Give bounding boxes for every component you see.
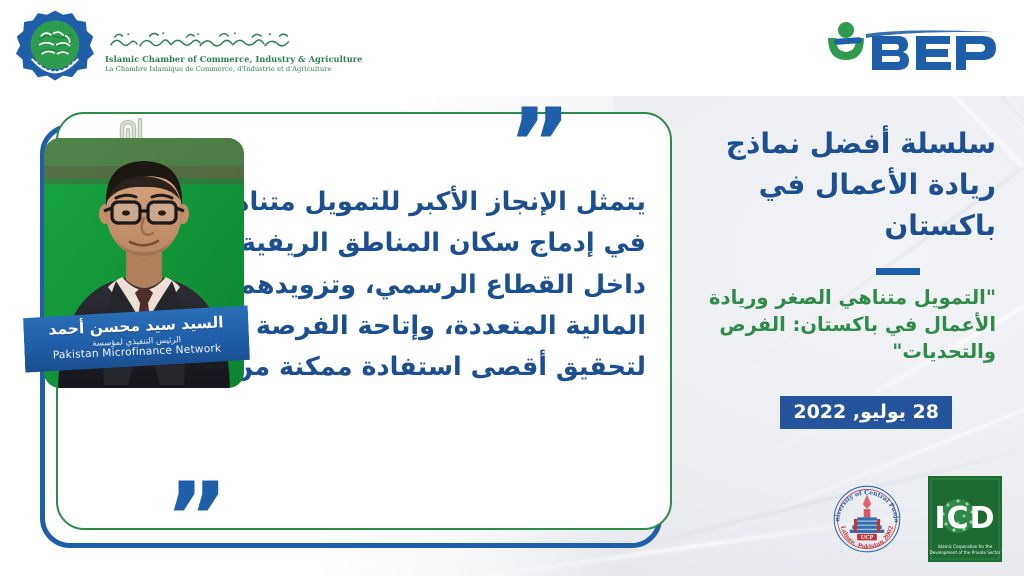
event-date-badge: 28 يوليو, 2022 <box>780 396 952 429</box>
event-series-title: سلسلة أفضل نماذج ريادة الأعمال في باكستا… <box>666 124 996 247</box>
svg-text:UCP: UCP <box>861 535 874 541</box>
quote-open-icon: ” <box>508 96 567 192</box>
icd-logo-icon: ICD Islamic Corporation for the Developm… <box>928 476 1002 562</box>
ucp-logo-icon: UCP University of Central Punjab Lahore,… <box>826 478 908 560</box>
quote-close-icon: ” <box>165 470 224 566</box>
event-subtitle: "التمويل متناهي الصغر وريادة الأعمال في … <box>666 285 996 366</box>
bep-logo-icon <box>820 18 1000 76</box>
iccia-arabic-script-icon <box>105 27 299 53</box>
iccia-logo-text: Islamic Chamber of Commerce, Industry & … <box>105 23 362 73</box>
svg-text:Islamic Corporation for the: Islamic Corporation for the <box>938 544 993 549</box>
svg-text:Development of the Private Sec: Development of the Private Sector <box>930 550 1001 555</box>
svg-text:University of Central Punjab: University of Central Punjab <box>826 478 900 523</box>
slide-canvas: Islamic Chamber of Commerce, Industry & … <box>0 0 1024 576</box>
iccia-french-name: La Chambre Islamique de Commerce, d'Indu… <box>105 65 362 73</box>
title-divider <box>876 268 920 275</box>
iccia-english-name: Islamic Chamber of Commerce, Industry & … <box>105 54 362 64</box>
footer-logos: UCP University of Central Punjab Lahore,… <box>826 476 1002 562</box>
iccia-emblem-icon <box>14 9 96 87</box>
iccia-logo: Islamic Chamber of Commerce, Industry & … <box>14 8 310 88</box>
svg-text:ICD: ICD <box>934 501 995 536</box>
